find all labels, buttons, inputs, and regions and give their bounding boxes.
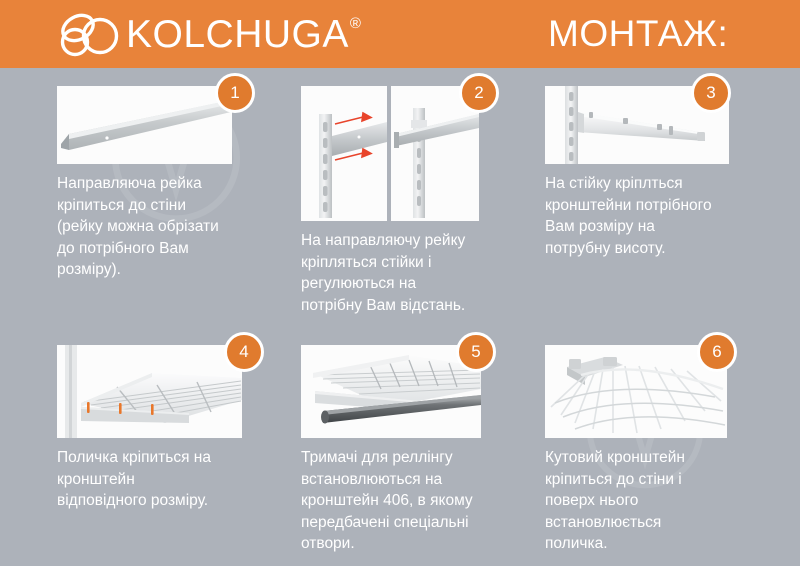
chainmail-rings-icon xyxy=(58,12,124,58)
step-badge-3: 3 xyxy=(691,73,731,113)
instruction-step-2: 2 На направляючу рейку кріпляться стійки… xyxy=(301,86,513,316)
step-badge-5: 5 xyxy=(456,332,496,372)
step-caption-1: Направляюча рейка кріпиться до стіни (ре… xyxy=(57,173,289,281)
page-header: KOLCHUGA ® МОНТАЖ: xyxy=(0,0,800,68)
brand-wordmark: KOLCHUGA xyxy=(126,12,349,58)
post-on-rail-photo xyxy=(301,86,479,221)
post-rail-illustration xyxy=(301,86,479,221)
guide-rail-illustration xyxy=(57,86,232,164)
step-badge-1: 1 xyxy=(215,73,255,113)
step-badge-4: 4 xyxy=(224,332,264,372)
registered-trademark-icon: ® xyxy=(350,16,361,31)
instruction-step-4: 4 Поличка кріпиться на кронштейн відпові… xyxy=(57,345,289,512)
railing-holder-photo xyxy=(301,345,481,438)
instruction-step-3: 3 На стійку кріплться кронштейни потрібн… xyxy=(545,86,761,259)
instruction-step-5: 5 Тримачі для реллінгу встановлюються на… xyxy=(301,345,513,555)
step-caption-6: Кутовий кронштейн кріпиться до стіни і п… xyxy=(545,447,761,555)
step-badge-2: 2 xyxy=(459,73,499,113)
shelf-on-bracket-photo xyxy=(57,345,242,438)
brand-logo: KOLCHUGA ® xyxy=(58,12,361,60)
step-caption-3: На стійку кріплться кронштейни потрібног… xyxy=(545,173,761,259)
step-caption-2: На направляючу рейку кріпляться стійки і… xyxy=(301,230,513,316)
step-badge-6: 6 xyxy=(697,332,737,372)
page-title: МОНТАЖ: xyxy=(548,11,728,57)
instruction-step-1: 1 Направляюча рейка кріпиться до стіни (… xyxy=(57,86,289,281)
guide-rail-photo xyxy=(57,86,232,164)
step-caption-5: Тримачі для реллінгу встановлюються на к… xyxy=(301,447,513,555)
step-caption-4: Поличка кріпиться на кронштейн відповідн… xyxy=(57,447,289,512)
instruction-step-6: 6 Кутовий кронштейн кріпиться до стіни і… xyxy=(545,345,761,555)
railing-holder-illustration xyxy=(301,345,481,438)
wire-shelf-illustration xyxy=(57,345,242,438)
instruction-grid: 1 Направляюча рейка кріпиться до стіни (… xyxy=(0,68,800,566)
